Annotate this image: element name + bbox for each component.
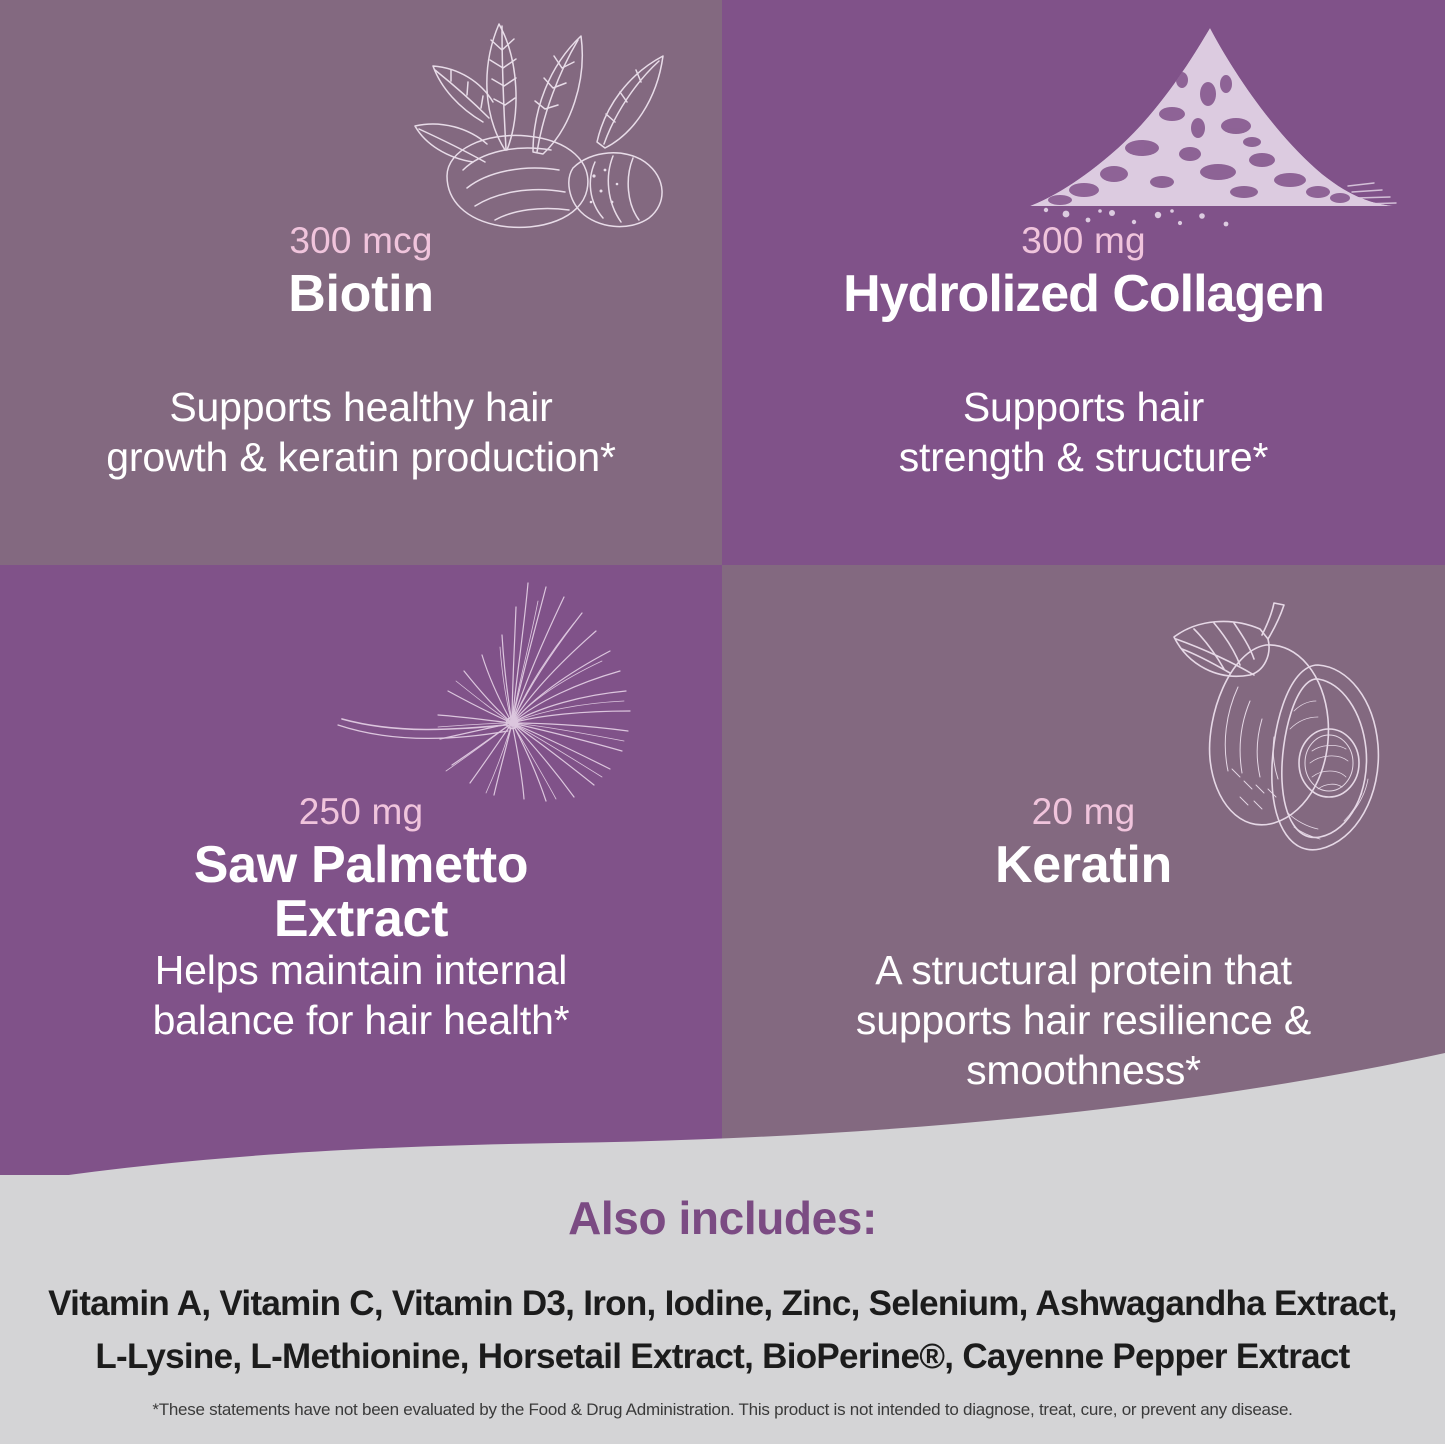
dose-label: 20 mg [746, 793, 1421, 832]
ingredient-name: Saw Palmetto Extract [24, 838, 698, 946]
ingredient-name: Biotin [24, 267, 698, 321]
fda-disclaimer: *These statements have not been evaluate… [60, 1400, 1385, 1420]
dose-label: 300 mcg [24, 222, 698, 261]
also-includes-heading: Also includes: [0, 1191, 1445, 1245]
ingredient-panel-collagen: 300 mg Hydrolized Collagen Supports hair… [722, 0, 1445, 565]
panel-head-biotin: 300 mcg Biotin [0, 222, 722, 321]
ingredient-name: Keratin [746, 838, 1421, 892]
footer-section: Also includes: Vitamin A, Vitamin C, Vit… [0, 1175, 1445, 1444]
collagen-powder-pile-icon [1022, 22, 1402, 227]
ingredient-panel-grid: 300 mcg Biotin Supports healthy hair gro… [0, 0, 1445, 1180]
panel-head-keratin: 20 mg Keratin [722, 793, 1445, 892]
panel-body-collagen: Supports hair strength & structure* [722, 382, 1445, 482]
supplement-ingredient-infographic: 300 mcg Biotin Supports healthy hair gro… [0, 0, 1445, 1444]
ingredients-list: Vitamin A, Vitamin C, Vitamin D3, Iron, … [40, 1277, 1405, 1383]
panel-head-collagen: 300 mg Hydrolized Collagen [722, 222, 1445, 321]
ingredient-panel-biotin: 300 mcg Biotin Supports healthy hair gro… [0, 0, 722, 565]
panel-head-saw-palmetto: 250 mg Saw Palmetto Extract [0, 793, 722, 946]
dose-label: 300 mg [746, 222, 1421, 261]
panel-body-saw-palmetto: Helps maintain internal balance for hair… [0, 945, 722, 1045]
ingredient-description: Helps maintain internal balance for hair… [24, 945, 698, 1045]
ingredient-name: Hydrolized Collagen [746, 267, 1421, 321]
panel-body-biotin: Supports healthy hair growth & keratin p… [0, 382, 722, 482]
dose-label: 250 mg [24, 793, 698, 832]
saw-palmetto-frond-icon [280, 573, 680, 803]
cocoa-bean-leaves-icon [355, 10, 685, 235]
ingredient-description: Supports hair strength & structure* [746, 382, 1421, 482]
ingredient-description: Supports healthy hair growth & keratin p… [24, 382, 698, 482]
